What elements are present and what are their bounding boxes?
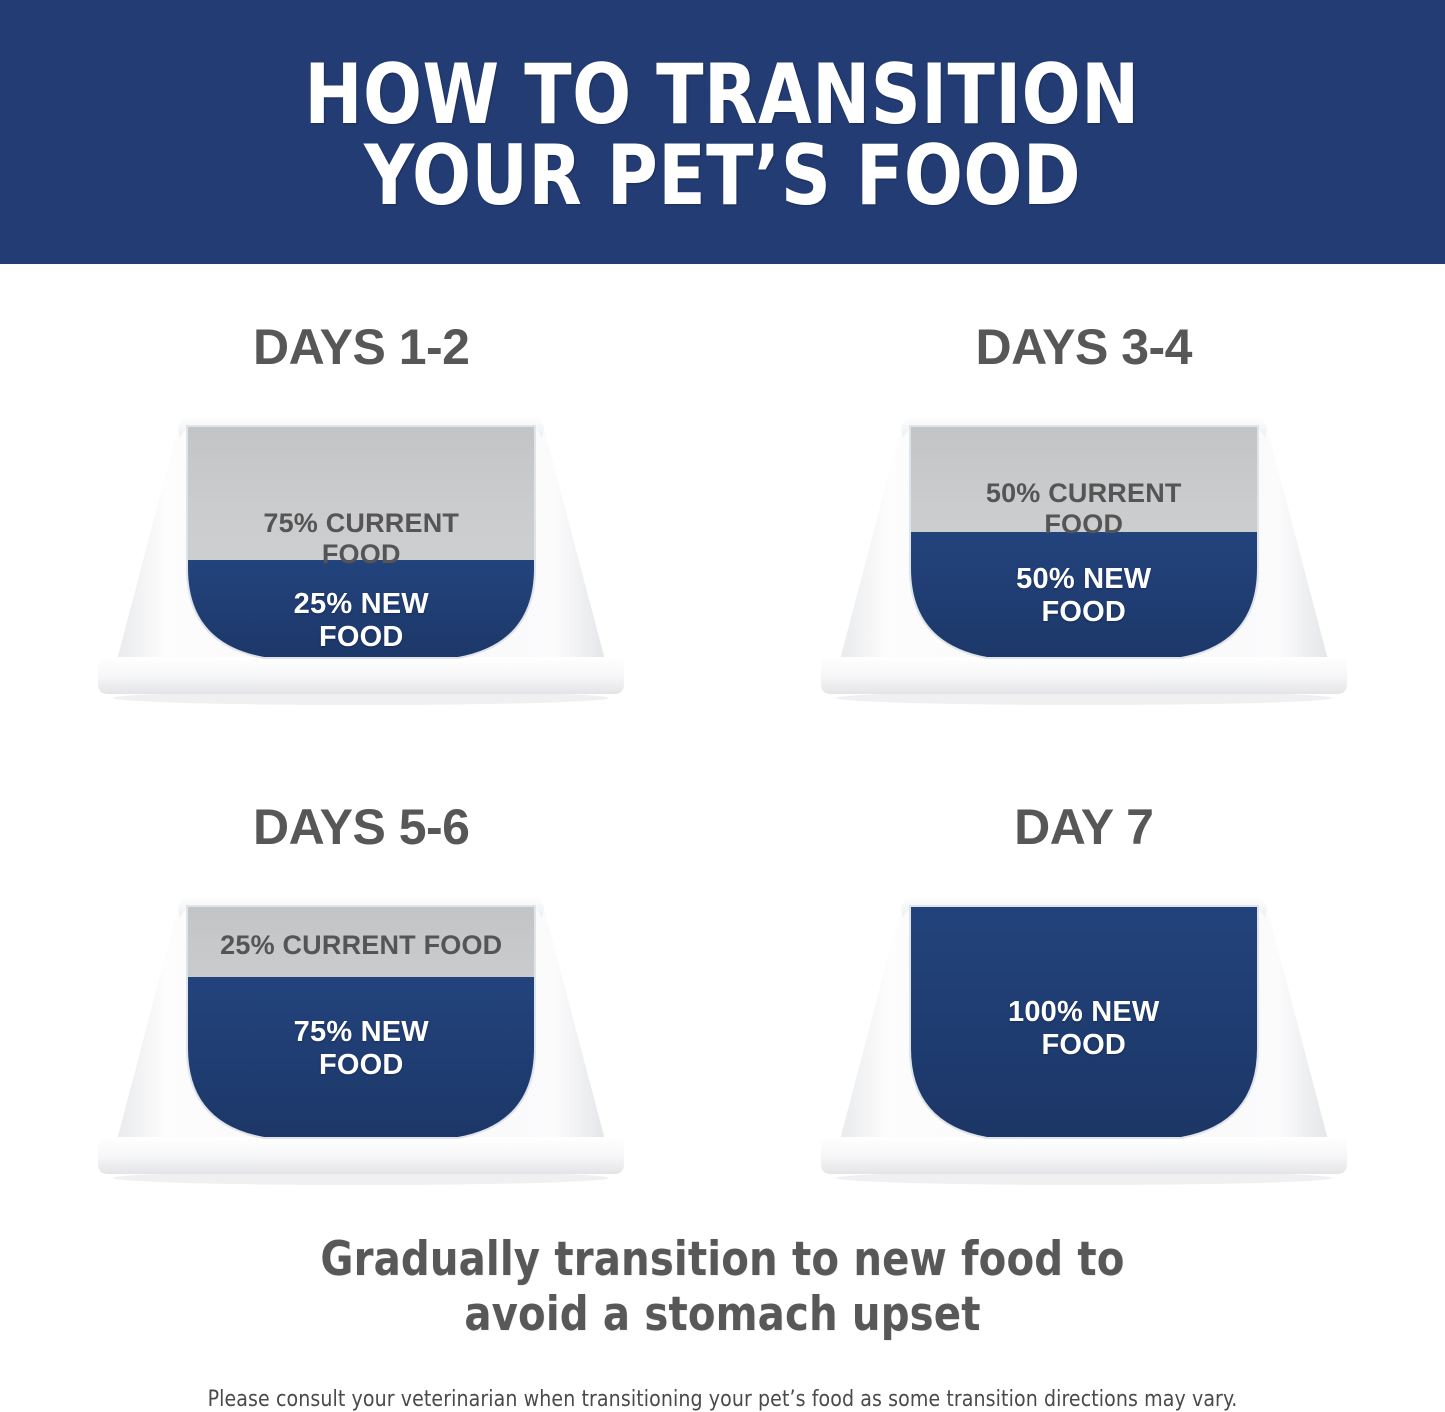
- step-card-days-3-4: DAYS 3-4: [723, 264, 1445, 744]
- food-bowl: 25% CURRENT FOOD 75% NEW FOOD: [68, 888, 654, 1188]
- day-label: DAYS 1-2: [253, 322, 469, 372]
- day-label: DAY 7: [1014, 802, 1153, 852]
- footer-headline-line-2: avoid a stomach upset: [36, 1287, 1409, 1342]
- day-label: DAYS 5-6: [253, 802, 469, 852]
- food-bowl: 75% CURRENT FOOD 25% NEW FOOD: [68, 408, 654, 708]
- bowl-base: [821, 657, 1347, 694]
- page-title-line-1: HOW TO TRANSITION: [305, 54, 1140, 135]
- header-banner: HOW TO TRANSITION YOUR PET’S FOOD: [0, 0, 1445, 264]
- step-card-days-1-2: DAYS 1-2: [0, 264, 723, 744]
- transition-steps-grid: DAYS 1-2: [0, 264, 1445, 1224]
- day-label: DAYS 3-4: [976, 322, 1192, 372]
- footer-headline-line-1: Gradually transition to new food to: [36, 1232, 1409, 1287]
- bowl-base: [821, 1137, 1347, 1174]
- step-card-day-7: DAY 7: [723, 744, 1445, 1224]
- food-bowl: 100% NEW FOOD: [791, 888, 1377, 1188]
- bowl-illustration: [68, 888, 654, 1188]
- bowl-illustration: [791, 408, 1377, 708]
- step-card-days-5-6: DAYS 5-6: [0, 744, 723, 1224]
- footer-block: Gradually transition to new food to avoi…: [0, 1232, 1445, 1412]
- food-bowl: 50% CURRENT FOOD 50% NEW FOOD: [791, 408, 1377, 708]
- footer-disclaimer: Please consult your veterinarian when tr…: [29, 1387, 1416, 1412]
- infographic-page: HOW TO TRANSITION YOUR PET’S FOOD DAYS 1…: [0, 0, 1445, 1408]
- bowl-illustration: [791, 888, 1377, 1188]
- bowl-base: [98, 1137, 624, 1174]
- bowl-illustration: [68, 408, 654, 708]
- bowl-base: [98, 657, 624, 694]
- page-title-line-2: YOUR PET’S FOOD: [364, 135, 1081, 216]
